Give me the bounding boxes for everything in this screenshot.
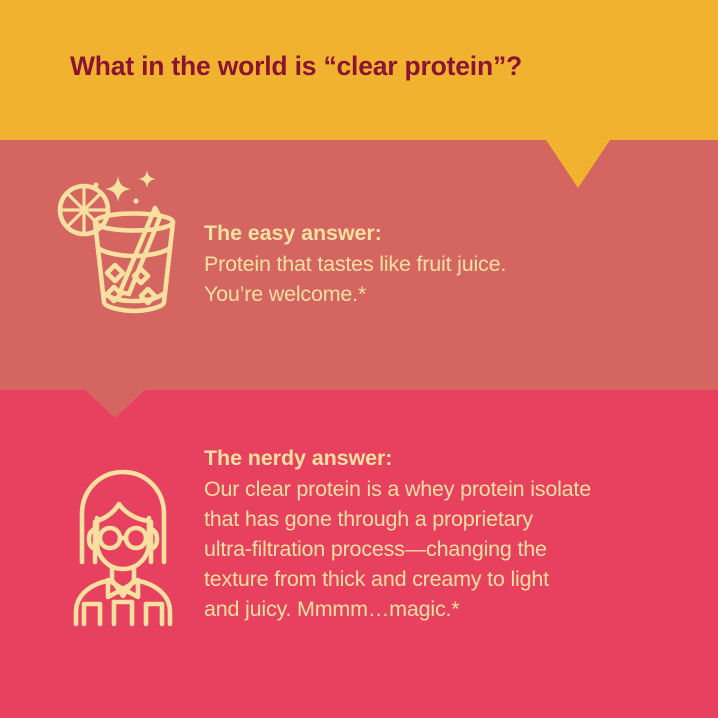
easy-answer-block: The easy answer: Protein that tastes lik…: [204, 219, 506, 309]
answer-line: Protein that tastes like fruit juice.: [204, 249, 506, 279]
easy-answer-body: Protein that tastes like fruit juice. Yo…: [204, 249, 506, 309]
infographic-poster: What in the world is “clear protein”?: [0, 0, 718, 718]
scientist-icon: [62, 466, 184, 633]
nerdy-answer-block: The nerdy answer: Our clear protein is a…: [204, 444, 591, 624]
answer-line: texture from thick and creamy to light: [204, 564, 591, 594]
answer-line: You’re welcome.*: [204, 279, 506, 309]
answer-line: that has gone through a proprietary: [204, 504, 591, 534]
answer-line: ultra-filtration process—changing the: [204, 534, 591, 564]
answer-line: and juicy. Mmmm…magic.*: [204, 594, 591, 624]
easy-answer-bubble-notch: [85, 390, 145, 418]
drink-glass-icon: [52, 168, 180, 323]
header-bubble-notch: [546, 140, 610, 188]
nerdy-answer-body: Our clear protein is a whey protein isol…: [204, 474, 591, 624]
nerdy-answer-heading: The nerdy answer:: [204, 444, 591, 472]
answer-line: Our clear protein is a whey protein isol…: [204, 474, 591, 504]
page-title: What in the world is “clear protein”?: [70, 51, 522, 82]
easy-answer-heading: The easy answer:: [204, 219, 506, 247]
